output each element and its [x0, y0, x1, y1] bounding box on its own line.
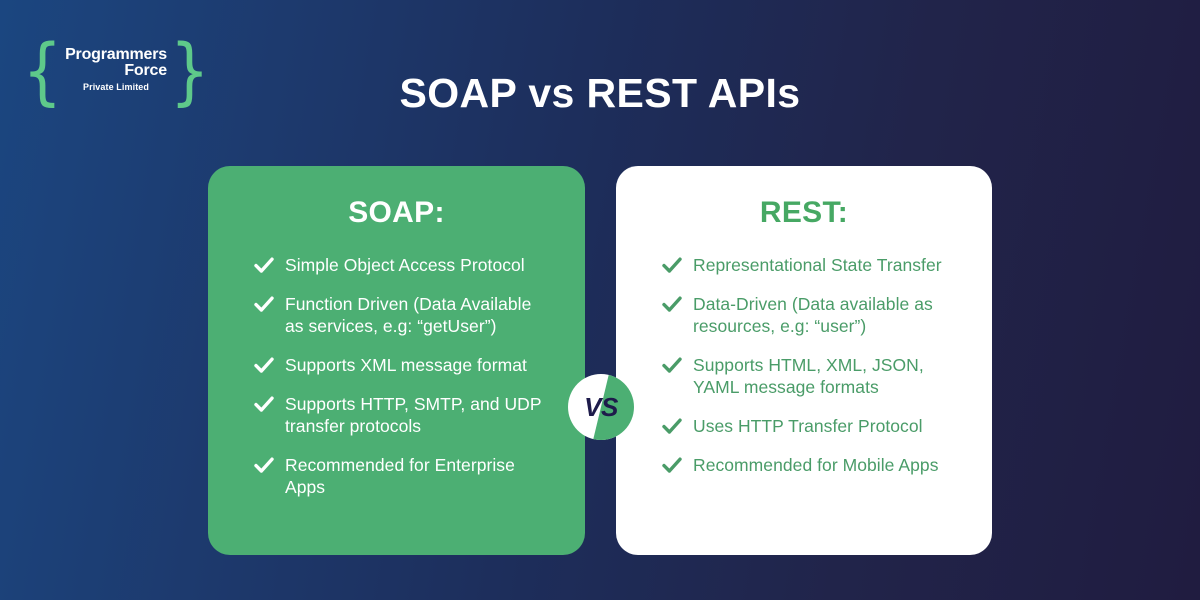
card-soap: SOAP: Simple Object Access Protocol Func…: [208, 166, 585, 555]
check-icon: [662, 257, 682, 274]
list-item: Simple Object Access Protocol: [254, 254, 551, 276]
vs-badge-label: VS: [568, 374, 634, 440]
list-item: Function Driven (Data Available as servi…: [254, 293, 551, 337]
list-item: Recommended for Enterprise Apps: [254, 454, 551, 498]
list-item: Supports HTTP, SMTP, and UDP transfer pr…: [254, 393, 551, 437]
list-item: Supports HTML, XML, JSON, YAML message f…: [662, 354, 958, 398]
check-icon: [254, 357, 274, 374]
card-rest-heading: REST:: [640, 196, 968, 230]
infographic-canvas: { Programmers Force Private Limited } SO…: [0, 0, 1200, 600]
list-item-label: Supports HTTP, SMTP, and UDP transfer pr…: [285, 393, 551, 437]
card-rest-list: Representational State Transfer Data-Dri…: [640, 254, 968, 476]
check-icon: [254, 457, 274, 474]
check-icon: [662, 457, 682, 474]
list-item-label: Data-Driven (Data available as resources…: [693, 293, 958, 337]
list-item-label: Simple Object Access Protocol: [285, 254, 525, 276]
list-item: Supports XML message format: [254, 354, 551, 376]
list-item: Representational State Transfer: [662, 254, 958, 276]
check-icon: [662, 418, 682, 435]
check-icon: [254, 257, 274, 274]
vs-badge: VS: [568, 374, 634, 440]
list-item: Recommended for Mobile Apps: [662, 454, 958, 476]
list-item-label: Recommended for Mobile Apps: [693, 454, 939, 476]
check-icon: [254, 296, 274, 313]
card-soap-list: Simple Object Access Protocol Function D…: [232, 254, 561, 498]
card-soap-heading: SOAP:: [232, 196, 561, 230]
list-item-label: Function Driven (Data Available as servi…: [285, 293, 551, 337]
list-item-label: Uses HTTP Transfer Protocol: [693, 415, 923, 437]
check-icon: [254, 396, 274, 413]
page-title: SOAP vs REST APIs: [0, 70, 1200, 117]
list-item-label: Supports XML message format: [285, 354, 527, 376]
list-item-label: Representational State Transfer: [693, 254, 942, 276]
check-icon: [662, 296, 682, 313]
list-item: Data-Driven (Data available as resources…: [662, 293, 958, 337]
list-item: Uses HTTP Transfer Protocol: [662, 415, 958, 437]
list-item-label: Recommended for Enterprise Apps: [285, 454, 551, 498]
logo-line-1: Programmers: [65, 47, 167, 63]
card-rest: REST: Representational State Transfer Da…: [616, 166, 992, 555]
list-item-label: Supports HTML, XML, JSON, YAML message f…: [693, 354, 958, 398]
check-icon: [662, 357, 682, 374]
